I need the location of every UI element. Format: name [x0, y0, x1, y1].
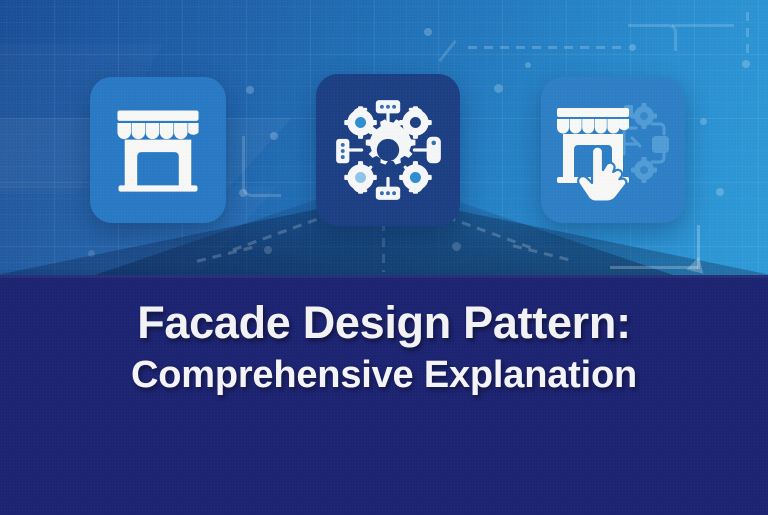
title-band: Facade Design Pattern: Comprehensive Exp…	[0, 275, 768, 515]
page-title: Facade Design Pattern:	[0, 299, 768, 348]
banner-image: Facade Design Pattern: Comprehensive Exp…	[0, 0, 768, 515]
page-subtitle: Comprehensive Explanation	[0, 354, 768, 397]
texture-noise	[0, 0, 768, 275]
title-block: Facade Design Pattern: Comprehensive Exp…	[0, 299, 768, 396]
hero-background	[0, 0, 768, 275]
